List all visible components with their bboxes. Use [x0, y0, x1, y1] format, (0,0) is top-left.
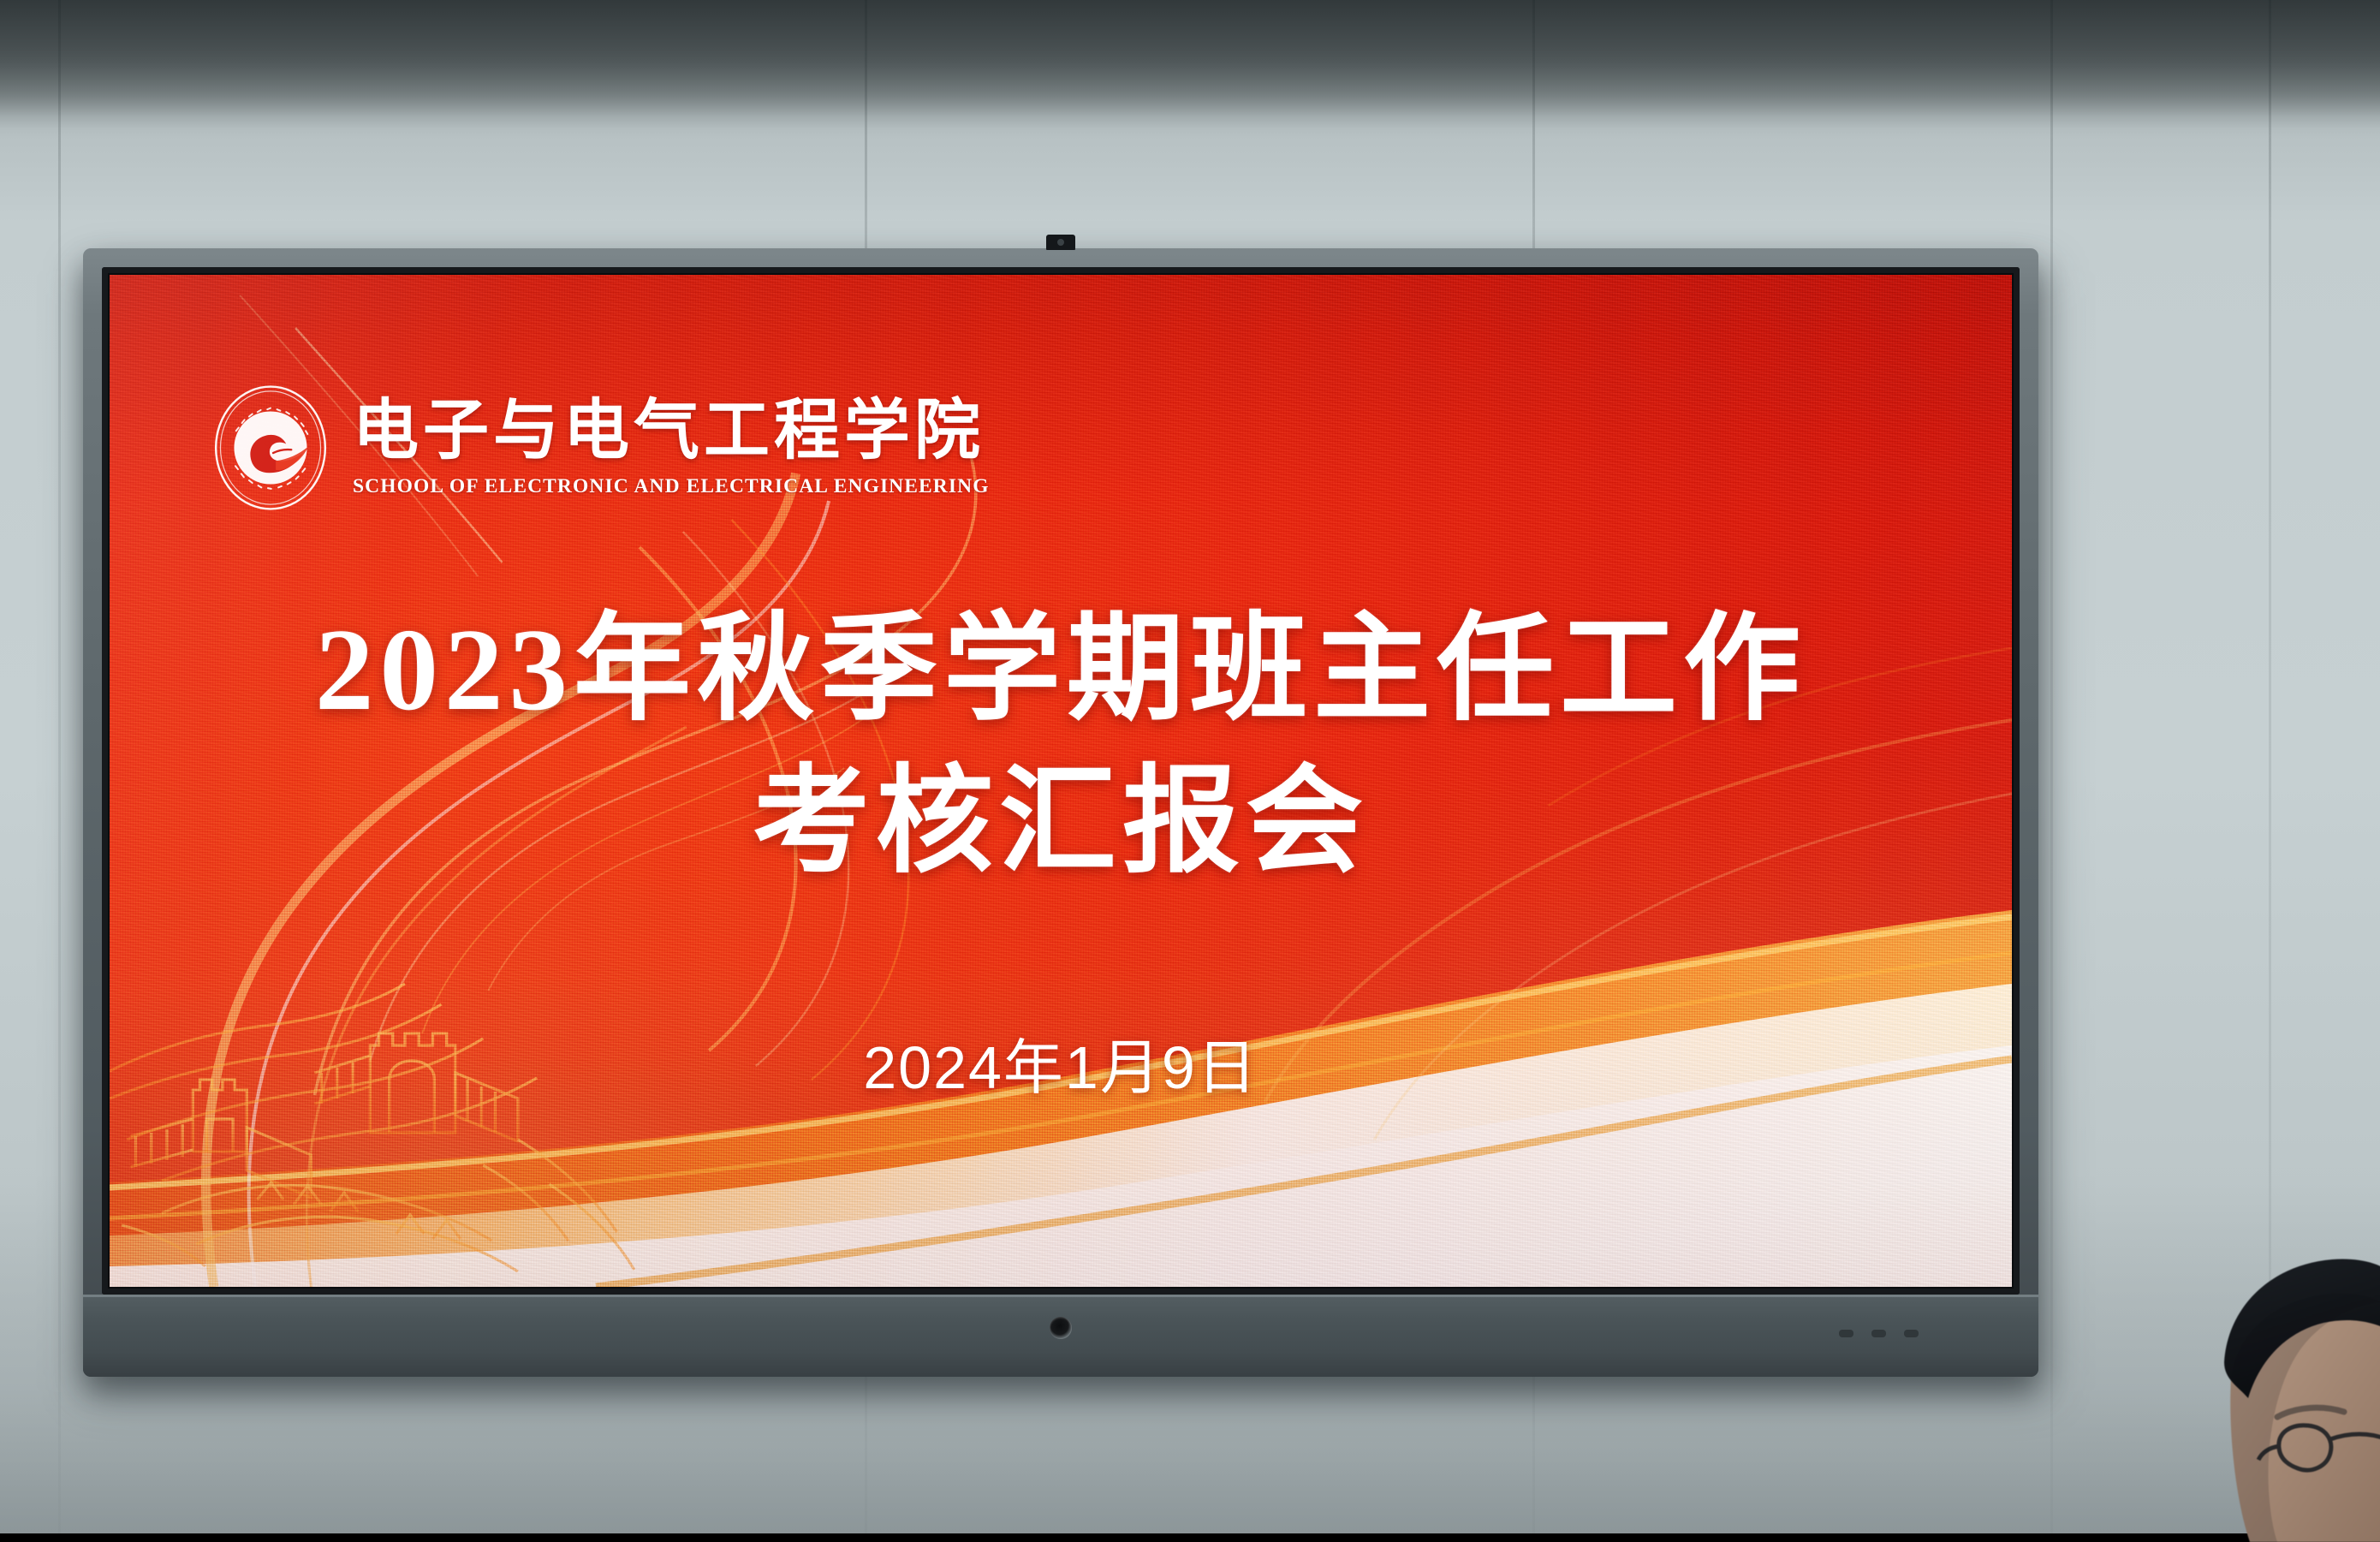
brand-text: 电子与电气工程学院 SCHOOL OF ELECTRONIC AND ELECT… [353, 397, 990, 497]
school-name-cn: 电子与电气工程学院 [353, 397, 990, 465]
school-name-en: SCHOOL OF ELECTRONIC AND ELECTRICAL ENGI… [353, 475, 990, 498]
slide-date: 2024年1月9日 [110, 1020, 2012, 1106]
wall-mounted-display[interactable]: 电子与电气工程学院 SCHOOL OF ELECTRONIC AND ELECT… [83, 248, 2038, 1377]
ir-sensor-icon [1050, 1317, 1072, 1339]
indicator-dot [1904, 1330, 1919, 1337]
indicator-dot [1839, 1330, 1853, 1337]
person-head-silhouette [2149, 1234, 2380, 1542]
chin-highlight [83, 1295, 2038, 1297]
room-background: 电子与电气工程学院 SCHOOL OF ELECTRONIC AND ELECT… [0, 0, 2380, 1533]
slide-content: 电子与电气工程学院 SCHOOL OF ELECTRONIC AND ELECT… [110, 275, 2012, 1287]
indicator-dot [1871, 1330, 1886, 1337]
ceiling-shadow [0, 0, 2380, 137]
display-bezel: 电子与电气工程学院 SCHOOL OF ELECTRONIC AND ELECT… [83, 248, 2038, 1377]
slide-title: 2023年秋季学期班主任工作 考核汇报会 [110, 593, 2012, 898]
slide-title-line2: 考核汇报会 [110, 746, 2012, 898]
university-seal-icon [205, 383, 336, 513]
display-inner-frame: 电子与电气工程学院 SCHOOL OF ELECTRONIC AND ELECT… [102, 267, 2020, 1295]
brand-lockup: 电子与电气工程学院 SCHOOL OF ELECTRONIC AND ELECT… [205, 383, 990, 513]
camera-icon [1046, 235, 1075, 250]
slide-title-line1: 2023年秋季学期班主任工作 [315, 604, 1806, 735]
display-screen[interactable]: 电子与电气工程学院 SCHOOL OF ELECTRONIC AND ELECT… [110, 275, 2012, 1287]
display-bottom-chin [83, 1295, 2038, 1377]
